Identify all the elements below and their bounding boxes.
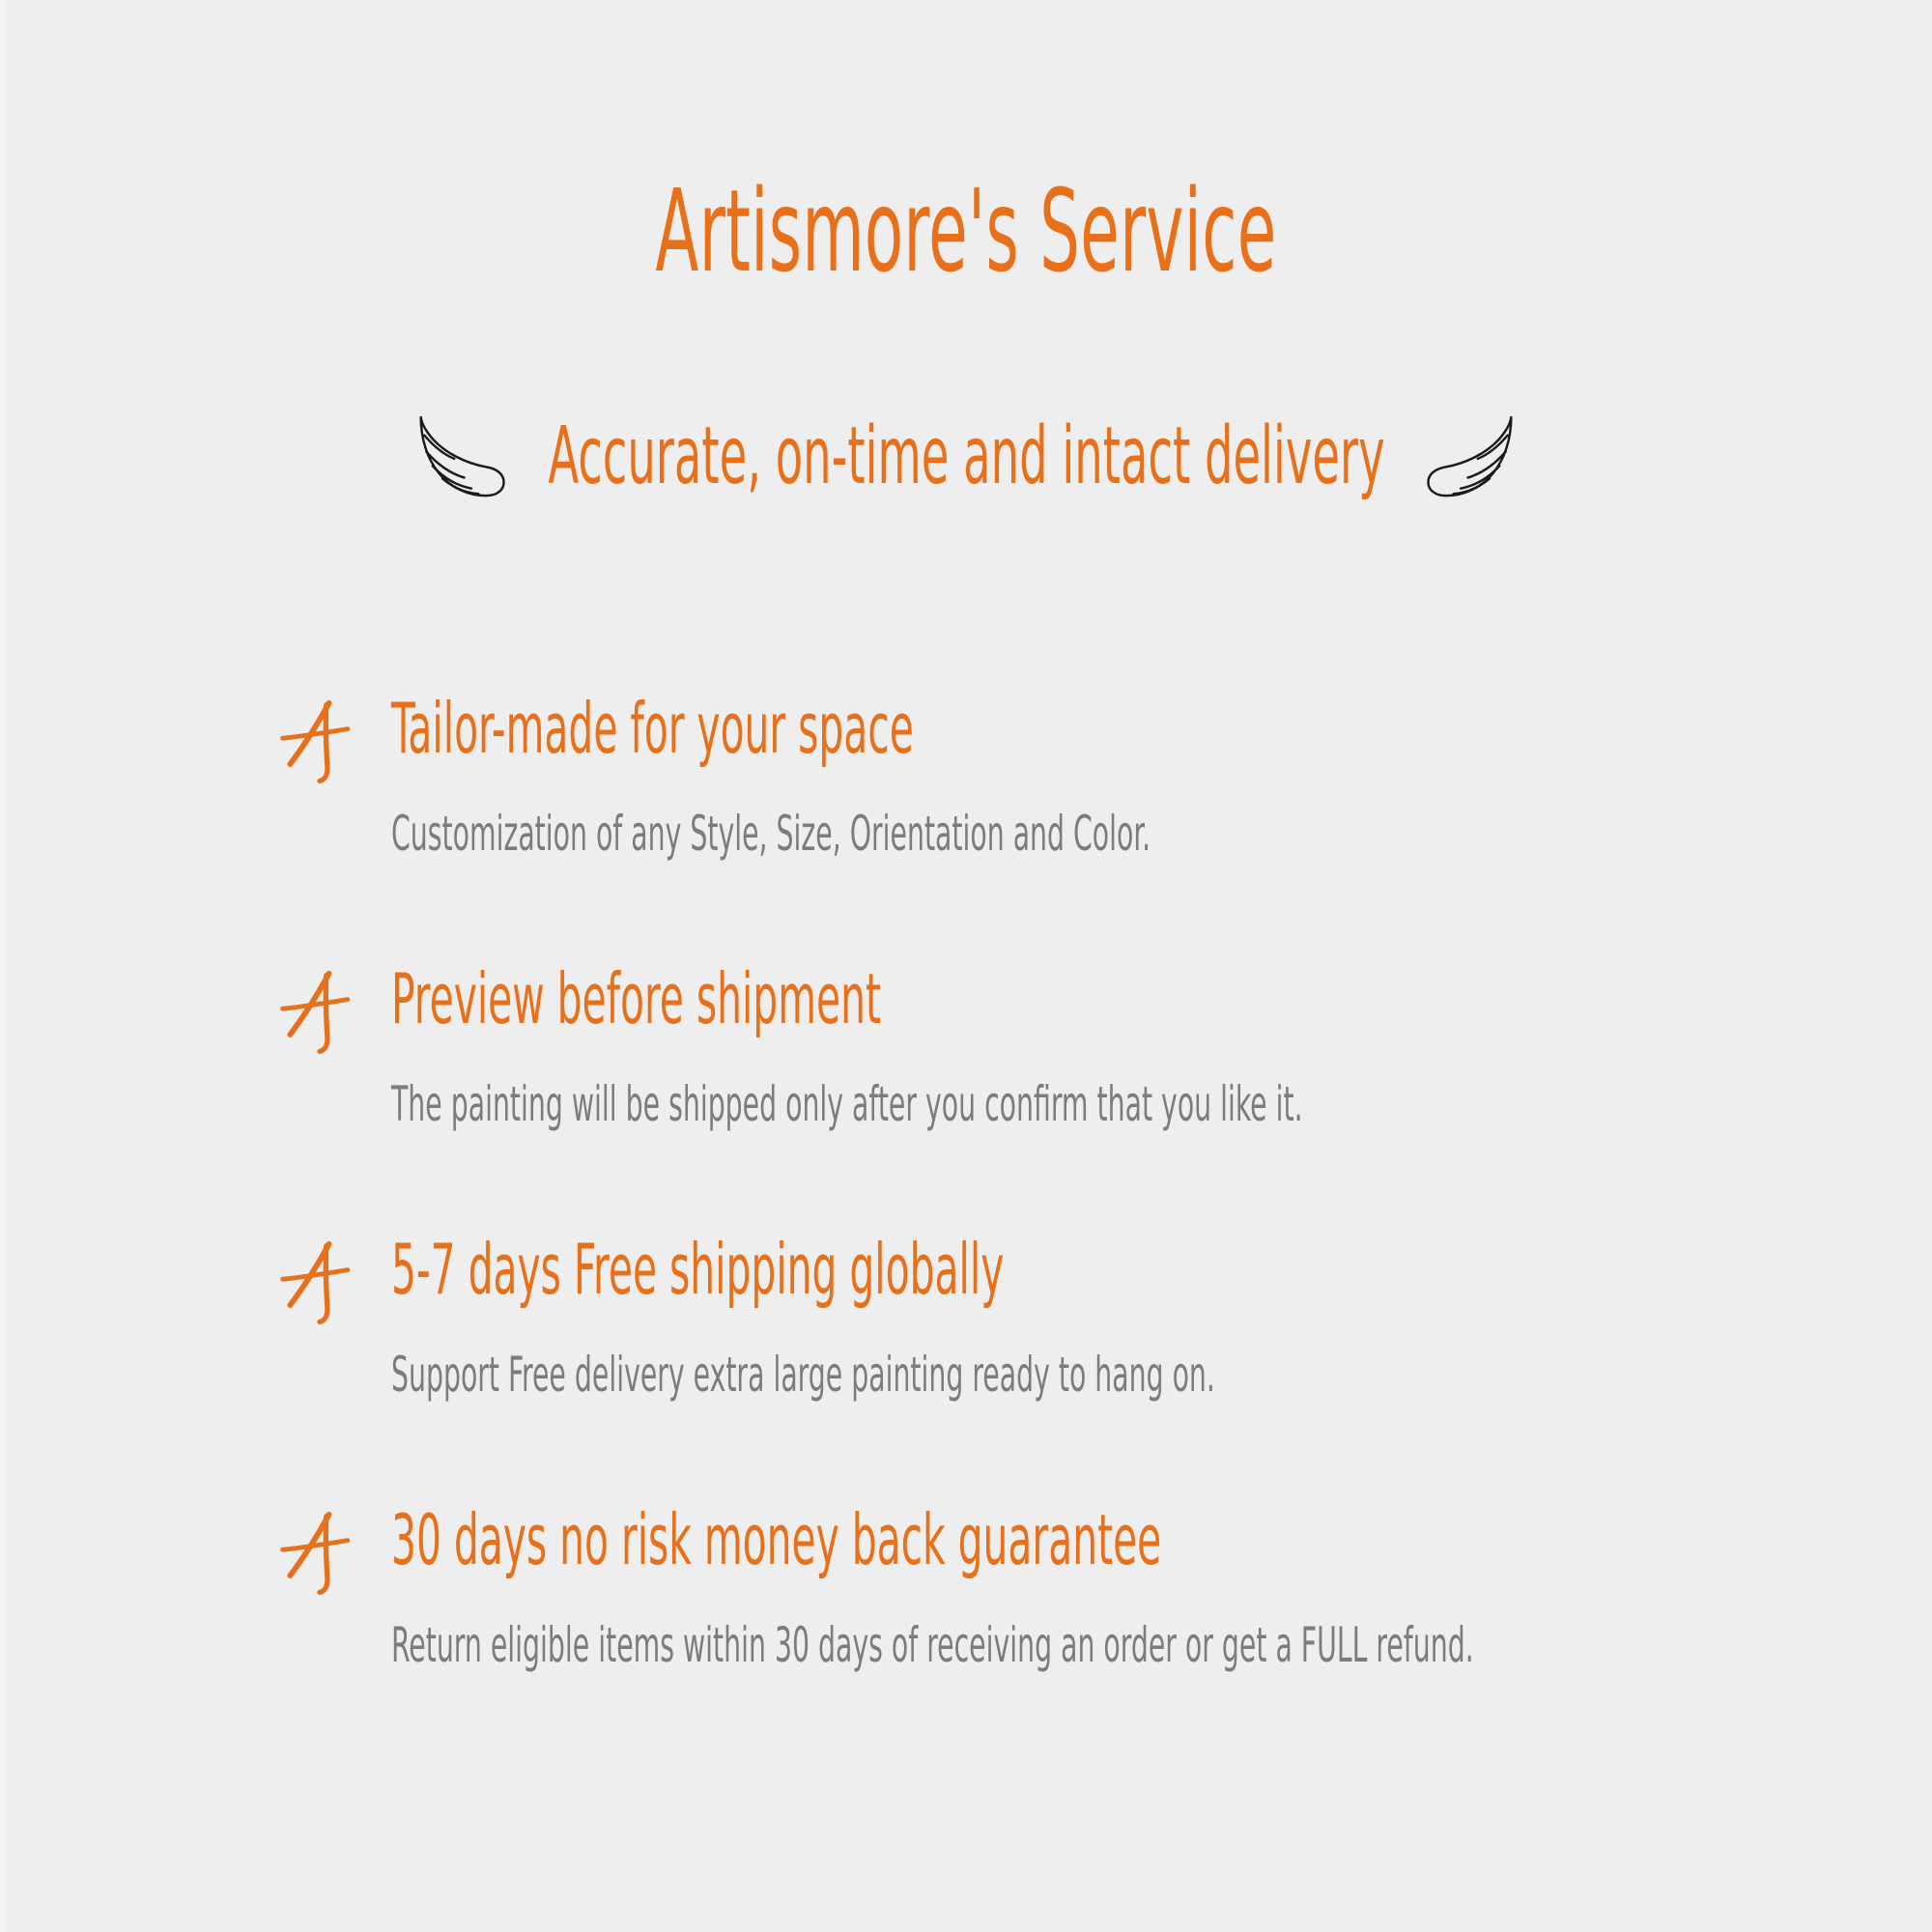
feature-description: Support Free delivery extra large painti…: [391, 1350, 1279, 1399]
feature-description: Customization of any Style, Size, Orient…: [391, 810, 1279, 858]
feature-item: 5-7 days Free shipping globally Support …: [273, 1235, 1800, 1424]
feature-body: Tailor-made for your space Customization…: [391, 694, 1800, 858]
feature-body: Preview before shipment The painting wil…: [391, 964, 1800, 1128]
wing-icon: [403, 403, 511, 511]
script-a-icon: [273, 968, 366, 1061]
left-edge-strip: [0, 0, 7, 1932]
feature-heading: 5-7 days Free shipping globally: [391, 1235, 1279, 1304]
page-subtitle: Accurate, on-time and intact delivery: [539, 413, 1393, 500]
service-info-page: Artismore's Service Accurate, on-time an…: [0, 0, 1932, 1932]
feature-body: 5-7 days Free shipping globally Support …: [391, 1235, 1800, 1399]
feature-body: 30 days no risk money back guarantee Ret…: [391, 1505, 1800, 1669]
feature-heading: 30 days no risk money back guarantee: [391, 1505, 1279, 1575]
script-a-icon: [273, 1238, 366, 1331]
wing-icon: [1421, 403, 1529, 511]
feature-description: The painting will be shipped only after …: [391, 1080, 1279, 1128]
feature-heading: Tailor-made for your space: [391, 694, 1279, 763]
page-title: Artismore's Service: [367, 172, 1565, 292]
feature-list: Tailor-made for your space Customization…: [273, 694, 1800, 1694]
feature-description: Return eligible items within 30 days of …: [391, 1621, 1279, 1669]
feature-item: Preview before shipment The painting wil…: [273, 964, 1800, 1153]
feature-heading: Preview before shipment: [391, 964, 1279, 1034]
feature-item: 30 days no risk money back guarantee Ret…: [273, 1505, 1800, 1694]
script-a-icon: [273, 1509, 366, 1602]
script-a-icon: [273, 697, 366, 790]
subtitle-row: Accurate, on-time and intact delivery: [0, 394, 1932, 520]
feature-item: Tailor-made for your space Customization…: [273, 694, 1800, 883]
